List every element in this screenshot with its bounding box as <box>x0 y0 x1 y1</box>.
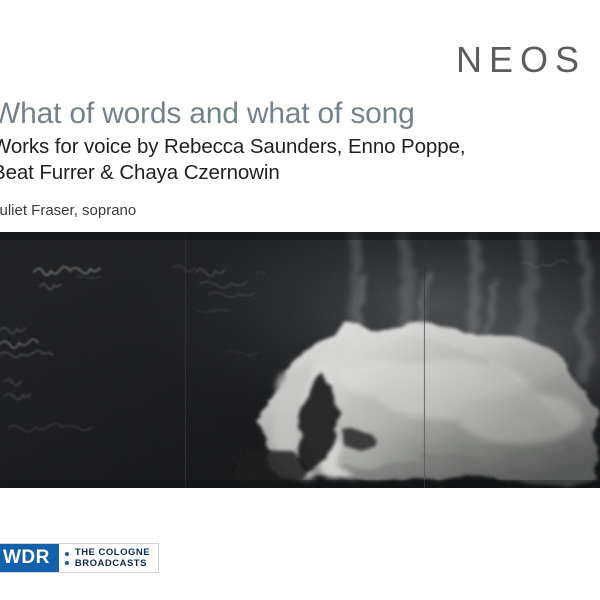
album-subtitle: Works for voice by Rebecca Saunders, Enn… <box>0 134 552 186</box>
wdr-slogan-line-2: BROADCASTS <box>75 558 150 569</box>
wdr-logo: WDR THE COLOGNE BROADCASTS <box>0 543 159 573</box>
wdr-wordmark: WDR <box>0 544 59 572</box>
wdr-slogan-line-1: THE COLOGNE <box>75 547 150 558</box>
artwork-illustration <box>0 232 600 488</box>
album-subtitle-line-1: Works for voice by Rebecca Saunders, Enn… <box>0 134 552 160</box>
release-text-block: What of words and what of song Works for… <box>0 96 552 221</box>
album-subtitle-line-2: Beat Furrer & Chaya Czernowin <box>0 160 552 186</box>
wdr-slogan-block: THE COLOGNE BROADCASTS <box>59 544 158 572</box>
album-title: What of words and what of song <box>0 96 552 132</box>
neos-label-logo: NEOS <box>456 42 586 78</box>
cover-artwork-photo <box>0 232 600 488</box>
wdr-dots-icon <box>65 552 69 565</box>
album-cover: NEOS What of words and what of song Work… <box>0 0 600 600</box>
wdr-slogan-text: THE COLOGNE BROADCASTS <box>75 547 150 569</box>
performer-credit: Juliet Fraser, soprano <box>0 201 552 221</box>
